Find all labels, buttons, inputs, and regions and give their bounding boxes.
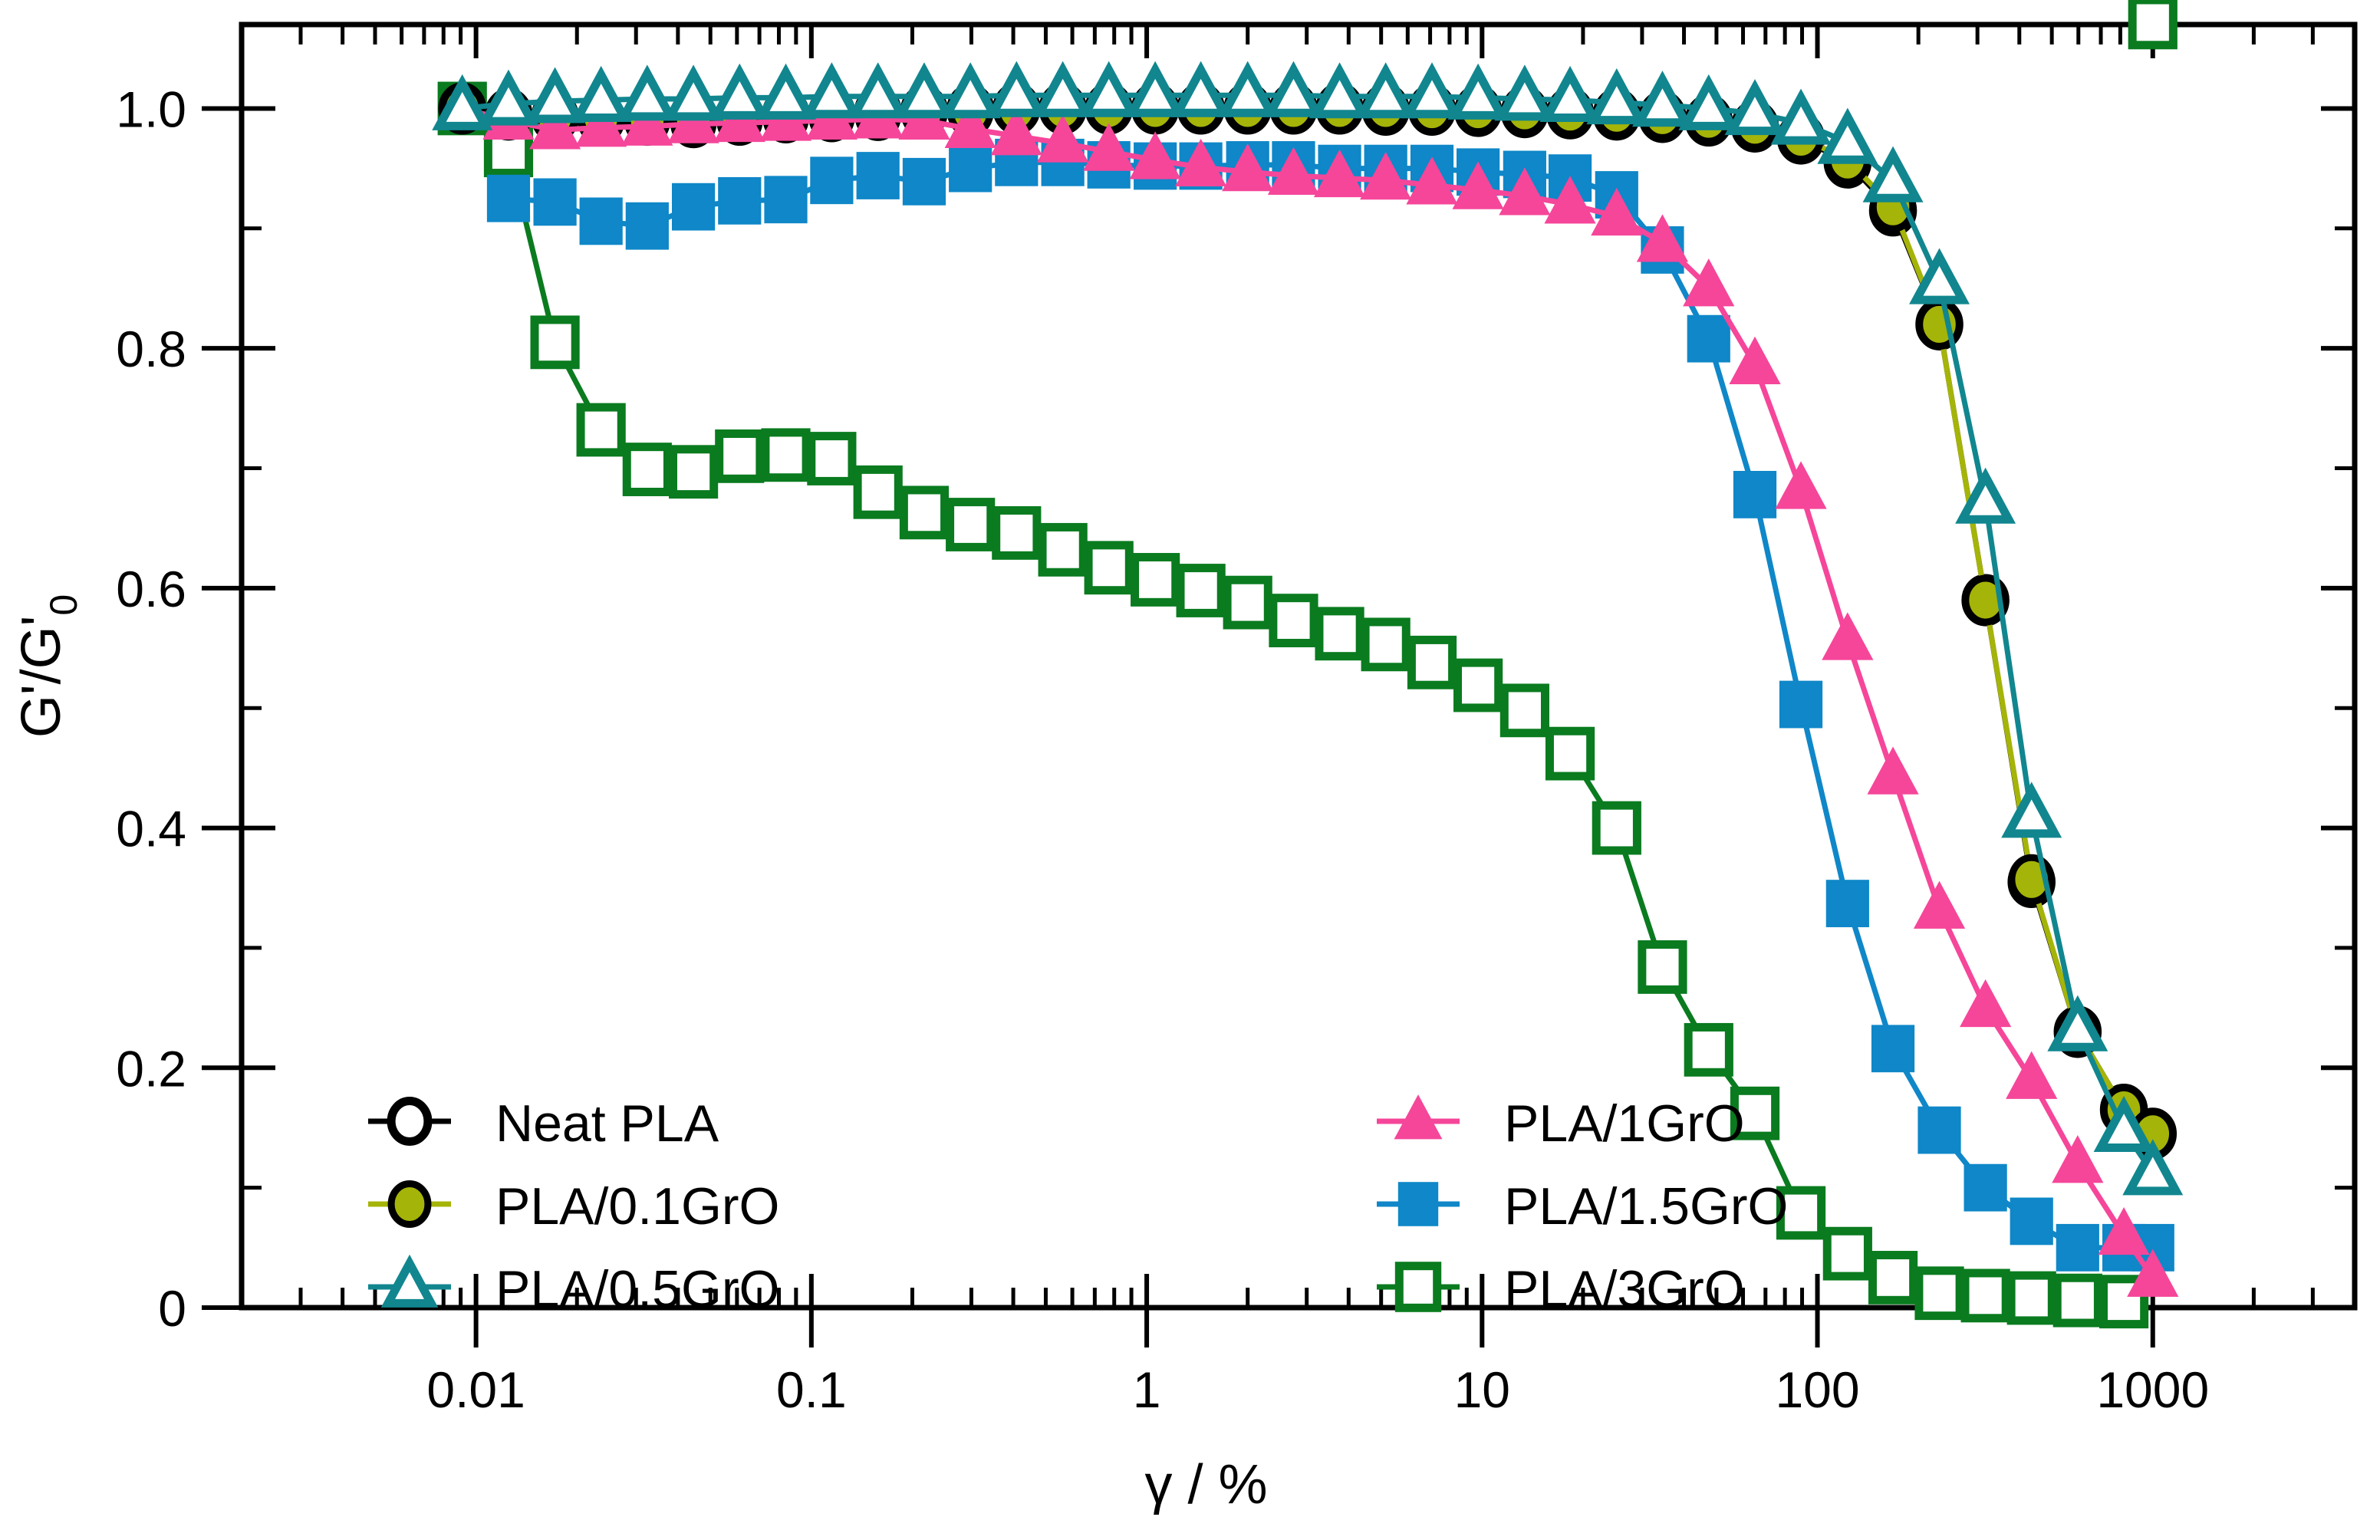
x-tick-label: 0.1 <box>776 1361 847 1418</box>
legend-label: PLA/0.1GrO <box>495 1177 779 1236</box>
x-tick-label: 0.01 <box>426 1361 525 1418</box>
legend-right-item-1[interactable]: PLA/1.5GrO <box>1377 1177 1788 1236</box>
x-tick-label: 100 <box>1775 1361 1859 1418</box>
y-tick-label: 0 <box>158 1280 186 1337</box>
y-tick-label: 0.4 <box>116 801 186 857</box>
legend-label: PLA/0.5GrO <box>495 1260 779 1318</box>
chart-canvas: 00.20.40.60.81.00.010.11101001000G'/G'0γ… <box>0 0 2380 1540</box>
y-axis-title: G'/G'0 <box>11 594 85 738</box>
legend-left-item-1[interactable]: PLA/0.1GrO <box>368 1177 779 1236</box>
legend-group: Neat PLAPLA/0.1GrOPLA/0.5GrOPLA/1GrOPLA/… <box>368 1094 1788 1318</box>
legend-label: PLA/1GrO <box>1504 1094 1745 1153</box>
legend-label: PLA/3GrO <box>1504 1260 1745 1318</box>
y-tick-label: 0.6 <box>116 561 186 617</box>
x-tick-label: 1 <box>1133 1361 1161 1418</box>
legend-label: Neat PLA <box>495 1094 719 1153</box>
x-tick-label: 1000 <box>2096 1361 2209 1418</box>
y-tick-label: 0.2 <box>116 1040 186 1097</box>
y-tick-label: 1.0 <box>116 81 186 137</box>
chart-figure: 00.20.40.60.81.00.010.11101001000G'/G'0γ… <box>0 0 2380 1540</box>
x-tick-label: 10 <box>1454 1361 1510 1418</box>
legend-label: PLA/1.5GrO <box>1504 1177 1788 1236</box>
y-tick-label: 0.8 <box>116 321 186 377</box>
x-axis-title: γ / % <box>1144 1454 1267 1515</box>
legend-left-item-0[interactable]: Neat PLA <box>368 1094 719 1153</box>
legend-right-item-2[interactable]: PLA/3GrO <box>1377 1260 1745 1318</box>
legend-right-item-0[interactable]: PLA/1GrO <box>1377 1094 1745 1153</box>
